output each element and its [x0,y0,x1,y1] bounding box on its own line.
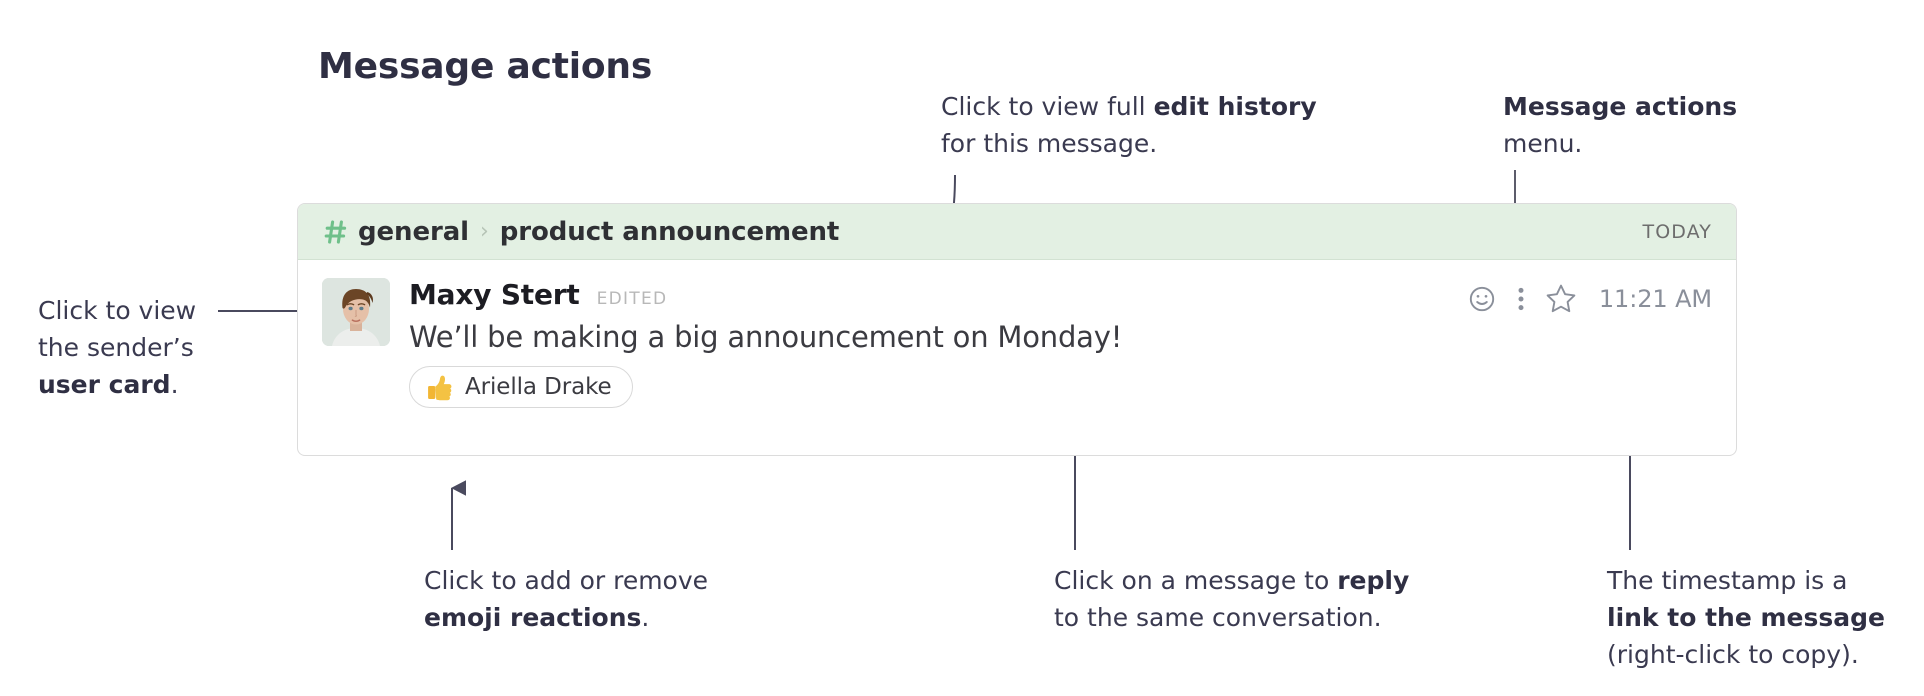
avatar-image [322,278,390,346]
annotation-reply: Click on a message to reply to the same … [1054,562,1409,636]
stream-name[interactable]: general [358,217,469,247]
message-timestamp[interactable]: 11:21 AM [1599,285,1712,313]
emoji-reaction-icon[interactable] [1467,284,1497,314]
message-row[interactable]: Maxy Stert EDITED We’ll be making a big … [298,260,1736,408]
page-title: Message actions [318,46,652,87]
annotation-emphasis: emoji reactions [424,603,641,632]
avatar[interactable] [322,278,390,346]
annotation-text: Click to view full [941,92,1154,121]
reaction-pill[interactable]: Ariella Drake [409,366,633,408]
thumbs-up-emoji [424,372,454,402]
annotation-actions-menu: Message actions menu. [1503,88,1737,162]
annotation-line: to the same conversation. [1054,599,1409,636]
annotation-line: user card. [38,366,196,403]
annotation-line: Message actions [1503,88,1737,125]
annotation-edit-history: Click to view full edit history for this… [941,88,1317,162]
star-icon[interactable] [1545,283,1577,314]
annotation-timestamp: The timestamp is a link to the message (… [1607,562,1885,673]
annotation-line: Click on a message to reply [1054,562,1409,599]
reaction-label: Ariella Drake [465,374,612,400]
annotation-line: (right-click to copy). [1607,636,1885,673]
annotation-emphasis: edit history [1154,92,1317,121]
sender-name[interactable]: Maxy Stert [409,278,580,311]
chevron-right-icon: › [480,219,489,244]
annotation-text: Click on a message to [1054,566,1337,595]
annotation-text: . [641,603,649,632]
header-date-label: TODAY [1643,221,1713,243]
topic-name[interactable]: product announcement [500,217,839,247]
annotation-line: for this message. [941,125,1317,162]
annotation-line: Click to add or remove [424,562,708,599]
annotation-line: link to the message [1607,599,1885,636]
annotation-line: Click to view [38,292,196,329]
annotation-emoji-reactions: Click to add or remove emoji reactions. [424,562,708,636]
annotation-text: . [171,370,179,399]
edited-badge[interactable]: EDITED [597,289,668,309]
annotation-line: menu. [1503,125,1737,162]
annotation-line: Click to view full edit history [941,88,1317,125]
annotation-user-card: Click to view the sender’s user card. [38,292,196,403]
message-body[interactable]: We’ll be making a big announcement on Mo… [409,320,1712,354]
hash-icon [324,219,348,245]
annotation-emphasis: reply [1337,566,1409,595]
annotation-line: emoji reactions. [424,599,708,636]
reaction-list: Ariella Drake [409,366,1712,408]
message-actions-icon[interactable] [1517,284,1525,314]
annotation-emphasis: user card [38,370,171,399]
annotation-emphasis: link to the message [1607,603,1885,632]
annotation-emphasis: Message actions [1503,92,1737,121]
annotation-line: the sender’s [38,329,196,366]
recipient-bar[interactable]: general › product announcement TODAY [298,204,1736,260]
message-controls: 11:21 AM [1467,283,1712,314]
message-card[interactable]: general › product announcement TODAY [297,203,1737,456]
annotation-line: The timestamp is a [1607,562,1885,599]
